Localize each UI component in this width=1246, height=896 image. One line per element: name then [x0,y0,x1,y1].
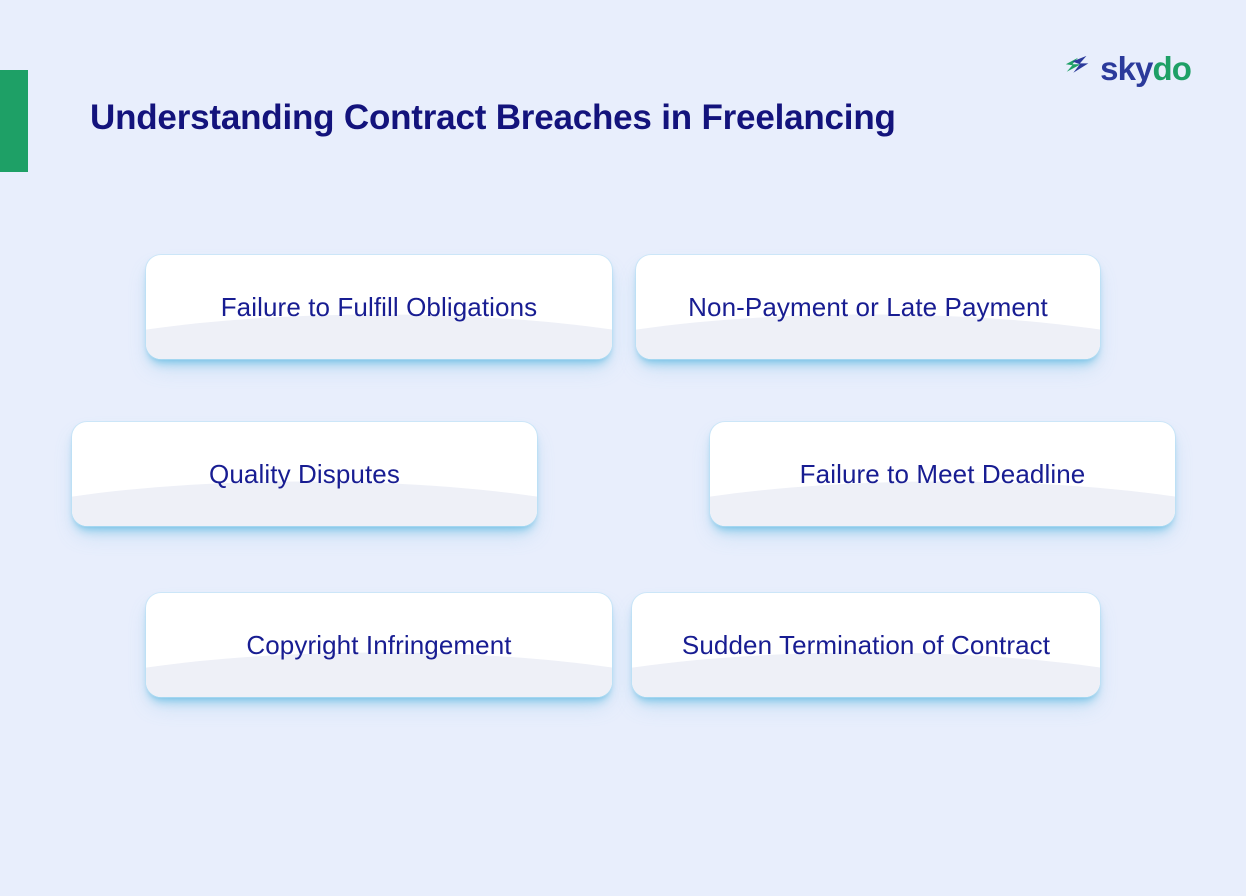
breach-card-label: Copyright Infringement [146,632,612,658]
breach-card[interactable]: Sudden Termination of Contract [632,593,1100,697]
title-accent-bar [0,70,28,172]
breach-card-label: Failure to Meet Deadline [710,461,1175,487]
brand-wordmark: skydo [1100,52,1191,85]
breach-card-label: Sudden Termination of Contract [632,632,1100,658]
brand-name-do: do [1152,50,1191,87]
breach-card-label: Failure to Fulfill Obligations [146,294,612,320]
breach-card[interactable]: Copyright Infringement [146,593,612,697]
breach-card[interactable]: Quality Disputes [72,422,537,526]
brand-name-sky: sky [1100,50,1152,87]
brand-logo: skydo [1063,47,1191,89]
breach-card[interactable]: Failure to Fulfill Obligations [146,255,612,359]
breach-card[interactable]: Non-Payment or Late Payment [636,255,1100,359]
breach-card-label: Quality Disputes [72,461,537,487]
breach-card[interactable]: Failure to Meet Deadline [710,422,1175,526]
breach-card-label: Non-Payment or Late Payment [636,294,1100,320]
infographic-canvas: Understanding Contract Breaches in Freel… [0,0,1246,896]
page-title: Understanding Contract Breaches in Freel… [90,98,896,138]
skydo-chevron-mark-icon [1063,53,1093,83]
